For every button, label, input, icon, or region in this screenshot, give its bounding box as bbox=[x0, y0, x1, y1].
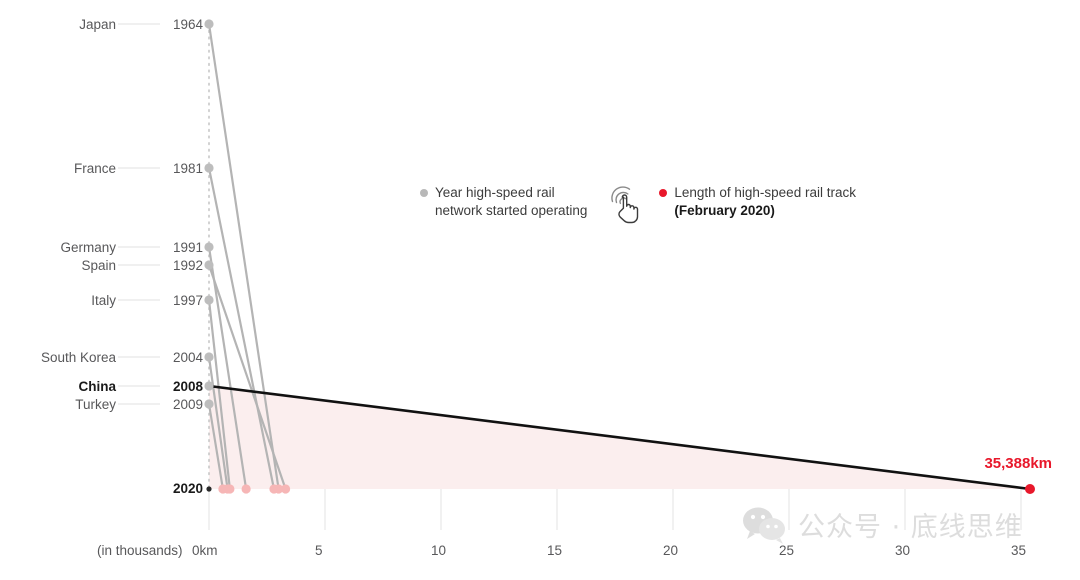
start-year-label-turkey: 2009 bbox=[125, 398, 203, 412]
start-year-label-japan: 1964 bbox=[125, 18, 203, 32]
country-label-japan[interactable]: Japan bbox=[0, 18, 116, 32]
track-length-dot[interactable] bbox=[281, 484, 290, 493]
track-length-dot-highlight[interactable] bbox=[1025, 484, 1035, 494]
start-year-dot[interactable] bbox=[204, 381, 213, 390]
legend-dot-gray bbox=[420, 189, 428, 197]
legend-label-track-length: Length of high-speed rail track (Februar… bbox=[674, 184, 856, 220]
track-length-dot[interactable] bbox=[218, 484, 227, 493]
china-value-callout: 35,388km bbox=[984, 455, 1052, 472]
country-label-turkey[interactable]: Turkey bbox=[0, 398, 116, 412]
start-year-dot[interactable] bbox=[204, 295, 213, 304]
baseline-tick-dot bbox=[206, 486, 211, 491]
chart-root: Japan1964France1981Germany1991Spain1992I… bbox=[0, 0, 1080, 580]
legend-line-2: network started operating bbox=[435, 203, 587, 218]
x-tick-label-0: 0km bbox=[192, 544, 218, 558]
chart-legend: Year high-speed rail network started ope… bbox=[420, 184, 856, 228]
country-label-france[interactable]: France bbox=[0, 162, 116, 176]
leader-lines bbox=[118, 24, 160, 404]
start-year-dot[interactable] bbox=[204, 260, 213, 269]
legend-line-1: Length of high-speed rail track bbox=[674, 185, 856, 200]
x-tick-label-25: 25 bbox=[779, 544, 794, 558]
country-label-china[interactable]: China bbox=[0, 380, 116, 394]
country-label-germany[interactable]: Germany bbox=[0, 241, 116, 255]
x-tick-label-10: 10 bbox=[431, 544, 446, 558]
track-length-dot[interactable] bbox=[269, 484, 278, 493]
legend-dot-red bbox=[659, 189, 667, 197]
legend-label-start-year: Year high-speed rail network started ope… bbox=[435, 184, 587, 220]
country-label-south-korea[interactable]: South Korea bbox=[0, 351, 116, 365]
start-year-label-south-korea: 2004 bbox=[125, 351, 203, 365]
touch-tap-icon bbox=[605, 184, 645, 228]
start-year-label-france: 1981 bbox=[125, 162, 203, 176]
axis-caption: (in thousands) bbox=[97, 544, 183, 558]
start-year-dot[interactable] bbox=[204, 242, 213, 251]
start-year-dot[interactable] bbox=[204, 399, 213, 408]
start-year-dot[interactable] bbox=[204, 163, 213, 172]
legend-line-1: Year high-speed rail bbox=[435, 185, 555, 200]
legend-line-2: (February 2020) bbox=[674, 203, 775, 218]
start-year-label-spain: 1992 bbox=[125, 259, 203, 273]
country-label-spain[interactable]: Spain bbox=[0, 259, 116, 273]
x-tick-label-15: 15 bbox=[547, 544, 562, 558]
x-tick-label-30: 30 bbox=[895, 544, 910, 558]
x-tick-label-35: 35 bbox=[1011, 544, 1026, 558]
start-year-label-italy: 1997 bbox=[125, 294, 203, 308]
legend-entry-start-year[interactable]: Year high-speed rail network started ope… bbox=[420, 184, 587, 220]
track-length-dot[interactable] bbox=[242, 484, 251, 493]
start-year-label-germany: 1991 bbox=[125, 241, 203, 255]
start-year-label-china: 2008 bbox=[125, 380, 203, 394]
x-tick-label-5: 5 bbox=[315, 544, 323, 558]
x-tick-label-20: 20 bbox=[663, 544, 678, 558]
country-label-italy[interactable]: Italy bbox=[0, 294, 116, 308]
x-gridlines bbox=[209, 489, 1021, 530]
start-year-dot[interactable] bbox=[204, 19, 213, 28]
start-year-dot[interactable] bbox=[204, 352, 213, 361]
legend-entry-track-length[interactable]: Length of high-speed rail track (Februar… bbox=[659, 184, 856, 220]
baseline-year-label: 2020 bbox=[125, 482, 203, 496]
